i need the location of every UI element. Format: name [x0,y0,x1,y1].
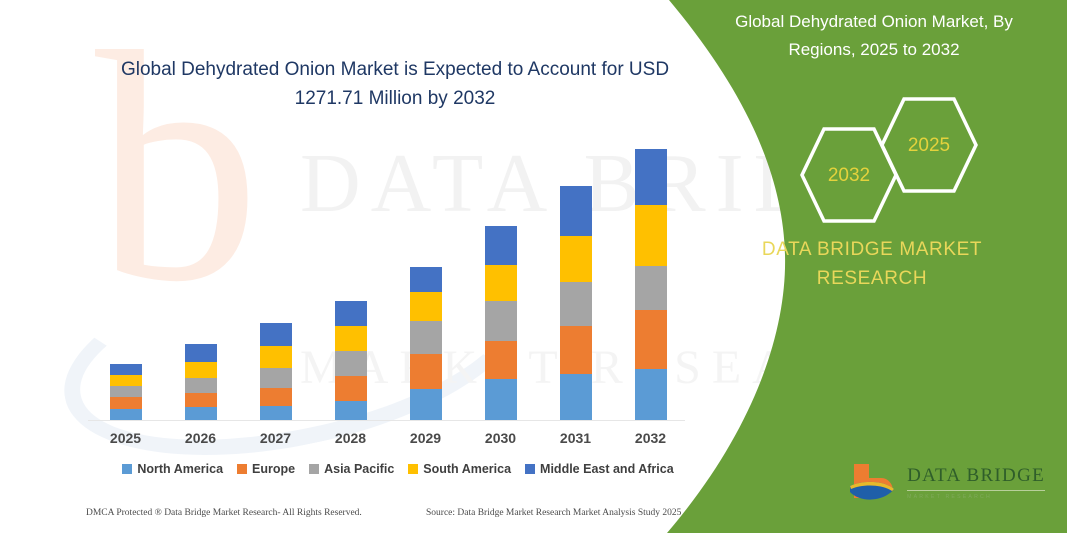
bar-segment [560,236,592,282]
bar-segment [485,301,517,341]
bar-segment [110,375,142,386]
panel-title: Global Dehydrated Onion Market, By Regio… [709,8,1039,64]
legend-label: Middle East and Africa [540,462,674,476]
bar-column-2025 [88,140,163,421]
bar-segment [185,378,217,393]
bar-segment [335,401,367,421]
stacked-bar [635,149,667,421]
bar-column-2029 [388,140,463,421]
green-panel-content: Global Dehydrated Onion Market, By Regio… [667,0,1067,533]
stacked-bar [485,226,517,421]
bar-column-2027 [238,140,313,421]
legend-label: Asia Pacific [324,462,394,476]
chart-title: Global Dehydrated Onion Market is Expect… [95,55,695,113]
panel-brand-name: DATA BRIDGE MARKET RESEARCH [697,235,1047,293]
bar-segment [560,186,592,236]
legend-swatch-icon [525,464,535,474]
bar-segment [560,282,592,326]
bar-segment [185,393,217,407]
logo-name: DATA BRIDGE [907,466,1045,485]
bar-segment [185,362,217,378]
x-axis-label-2028: 2028 [313,430,388,446]
bar-segment [485,226,517,265]
bar-segment [260,406,292,421]
hexagon-2032: 2032 [799,125,899,225]
footer-source: Source: Data Bridge Market Research Mark… [426,508,681,518]
legend-item[interactable]: South America [408,462,511,476]
bar-segment [635,369,667,421]
bar-segment [335,326,367,351]
bar-segment [410,389,442,421]
legend-item[interactable]: North America [122,462,223,476]
infographic-root: b DATA BRIDGE MARKET RESEARCH Global Deh… [0,0,1067,533]
stacked-bar [185,344,217,421]
data-bridge-logo: DATA BRIDGE MARKET RESEARCH [846,455,1045,511]
x-axis-label-2026: 2026 [163,430,238,446]
x-axis-label-2027: 2027 [238,430,313,446]
bar-segment [410,321,442,354]
stacked-bar-chart [88,140,688,421]
bar-segment [185,344,217,362]
x-axis-label-2029: 2029 [388,430,463,446]
footer-copyright: DMCA Protected ® Data Bridge Market Rese… [86,508,362,518]
bar-segment [260,368,292,388]
legend-label: North America [137,462,223,476]
x-axis-labels: 20252026202720282029203020312032 [88,430,688,446]
stacked-bar [410,267,442,421]
hexagon-group: 2025 2032 [777,95,1067,225]
legend-swatch-icon [309,464,319,474]
bar-segment [110,386,142,397]
logo-tagline: MARKET RESEARCH [907,490,1045,500]
bar-segment [185,407,217,421]
x-axis-label-2031: 2031 [538,430,613,446]
panel-brand-line1: DATA BRIDGE MARKET [697,235,1047,264]
bar-segment [335,351,367,376]
footer: DMCA Protected ® Data Bridge Market Rese… [86,508,686,524]
bar-column-2026 [163,140,238,421]
bar-segment [110,397,142,409]
legend-item[interactable]: Middle East and Africa [525,462,674,476]
bar-column-2031 [538,140,613,421]
x-axis-label-2025: 2025 [88,430,163,446]
bar-segment [260,323,292,346]
legend-swatch-icon [408,464,418,474]
bar-segment [560,326,592,374]
bar-segment [485,379,517,421]
hexagon-2032-label: 2032 [799,165,899,187]
stacked-bar [335,301,367,421]
bar-segment [410,267,442,292]
bar-segment [260,388,292,406]
legend-item[interactable]: Europe [237,462,295,476]
stacked-bar [260,323,292,421]
chart-legend: North AmericaEuropeAsia PacificSouth Ame… [88,462,708,476]
bar-segment [335,376,367,401]
bar-column-2028 [313,140,388,421]
legend-label: Europe [252,462,295,476]
panel-brand-line2: RESEARCH [697,264,1047,293]
bar-column-2030 [463,140,538,421]
legend-swatch-icon [237,464,247,474]
x-axis-line [88,420,685,421]
stacked-bar [110,364,142,421]
bar-segment [485,341,517,379]
bar-segment [260,346,292,368]
bar-segment [110,364,142,375]
bar-segment [635,205,667,266]
bar-segment [335,301,367,326]
stacked-bar [560,186,592,421]
legend-item[interactable]: Asia Pacific [309,462,394,476]
logo-mark-icon [846,458,898,508]
bar-segment [410,292,442,321]
logo-text: DATA BRIDGE MARKET RESEARCH [907,466,1045,500]
bar-segment [635,310,667,369]
legend-label: South America [423,462,511,476]
bar-segment [635,266,667,310]
bar-segment [560,374,592,421]
bar-segment [410,354,442,389]
bar-segment [485,265,517,301]
bar-segment [635,149,667,205]
x-axis-label-2030: 2030 [463,430,538,446]
legend-swatch-icon [122,464,132,474]
